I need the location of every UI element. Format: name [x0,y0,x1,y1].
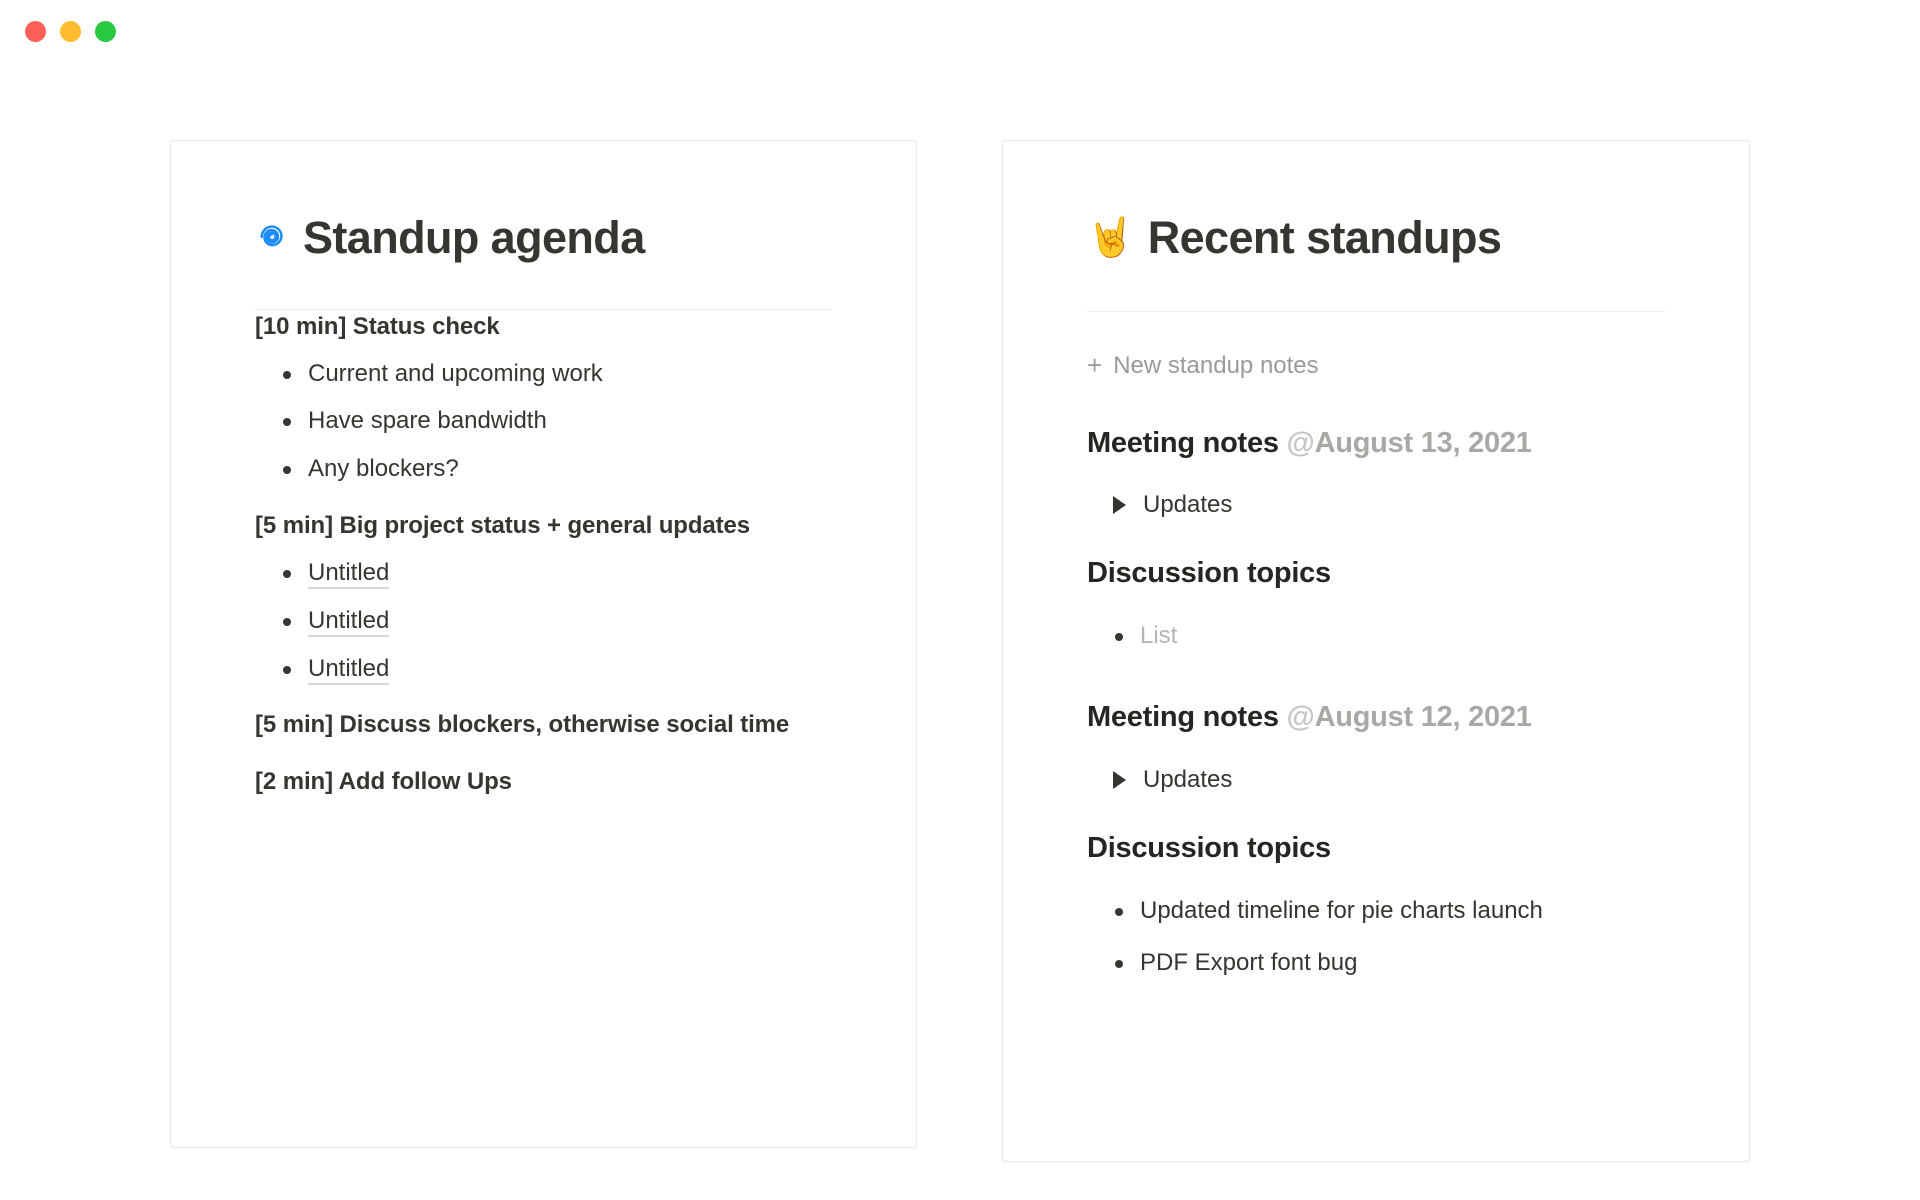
list-item: PDF Export font bug [1087,946,1665,981]
meeting-notes-date[interactable]: @August 12, 2021 [1287,701,1532,733]
at-symbol: @ [1287,701,1315,733]
list-item: Have spare bandwidth [255,404,832,439]
at-symbol: @ [1287,427,1315,459]
standup-entry: Meeting notes @August 12, 2021 Updates D… [1087,699,1665,981]
meeting-notes-title[interactable]: Meeting notes [1087,427,1279,459]
new-standup-notes-button[interactable]: + New standup notes [1087,352,1319,380]
standup-agenda-card: Standup agenda [10 min] Status check Cur… [170,140,917,1148]
list-item-label: Current and upcoming work [308,360,603,387]
meeting-notes-title[interactable]: Meeting notes [1087,701,1279,733]
caret-right-icon[interactable] [1113,496,1126,514]
meeting-notes-date[interactable]: @August 13, 2021 [1287,427,1532,459]
list-item: Any blockers? [255,452,832,487]
updates-toggle-label: Updates [1143,491,1232,519]
page-link[interactable]: Untitled [308,607,389,637]
sign-of-the-horns-icon: 🤘 [1087,219,1134,257]
agenda-block: [2 min] Add follow Ups [255,765,832,799]
agenda-block-heading: [5 min] Discuss blockers, otherwise soci… [255,708,832,742]
page-title: 🤘 Recent standups [1087,213,1665,263]
discussion-topics-list: Updated timeline for pie charts launch P… [1087,894,1665,982]
close-window-button[interactable] [25,21,46,42]
agenda-block: [10 min] Status check Current and upcomi… [255,310,832,487]
agenda-block: [5 min] Big project status + general upd… [255,509,832,686]
list-item-label: PDF Export font bug [1140,949,1357,976]
list-item[interactable]: Untitled [255,652,832,687]
maximize-window-button[interactable] [95,21,116,42]
updates-toggle-label: Updates [1143,766,1232,794]
list-item-placeholder: List [1140,622,1177,649]
list-item[interactable]: List [1087,619,1665,654]
discussion-topics-list: List [1087,619,1665,654]
agenda-block-heading: [2 min] Add follow Ups [255,765,832,799]
list-item-label: Have spare bandwidth [308,407,547,434]
agenda-block: [5 min] Discuss blockers, otherwise soci… [255,708,832,742]
page-title-text: Recent standups [1148,213,1502,263]
agenda-bullet-list: Current and upcoming work Have spare ban… [255,357,832,487]
minimize-window-button[interactable] [60,21,81,42]
meeting-notes-heading: Meeting notes @August 12, 2021 [1087,699,1665,737]
agenda-block-heading: [5 min] Big project status + general upd… [255,509,832,543]
updates-toggle[interactable]: Updates [1087,766,1232,794]
spiral-icon [255,217,289,258]
updates-toggle[interactable]: Updates [1087,491,1232,519]
meeting-notes-heading: Meeting notes @August 13, 2021 [1087,425,1665,463]
standup-entry: Meeting notes @August 13, 2021 Updates D… [1087,425,1665,654]
page-link[interactable]: Untitled [308,559,389,589]
list-item-label: Any blockers? [308,455,459,482]
list-item[interactable]: Untitled [255,604,832,639]
page-link[interactable]: Untitled [308,655,389,685]
agenda-block-heading: [10 min] Status check [255,310,832,344]
list-item: Updated timeline for pie charts launch [1087,894,1665,929]
caret-right-icon[interactable] [1113,771,1126,789]
page-title: Standup agenda [255,213,832,263]
discussion-topics-heading: Discussion topics [1087,832,1665,865]
list-item: Current and upcoming work [255,357,832,392]
recent-standups-card: 🤘 Recent standups + New standup notes Me… [1002,140,1750,1162]
list-item-label: Updated timeline for pie charts launch [1140,897,1543,924]
window-controls [25,21,116,42]
workspace: Standup agenda [10 min] Status check Cur… [0,140,1920,1162]
discussion-topics-heading: Discussion topics [1087,557,1665,590]
title-divider [1087,311,1665,312]
agenda-bullet-list: Untitled Untitled Untitled [255,556,832,686]
plus-icon: + [1087,352,1102,378]
agenda-body: [10 min] Status check Current and upcomi… [255,310,832,799]
new-standup-notes-label: New standup notes [1113,352,1318,380]
page-title-text: Standup agenda [303,213,645,263]
meeting-notes-date-text: August 13, 2021 [1315,427,1532,459]
list-item[interactable]: Untitled [255,556,832,591]
meeting-notes-date-text: August 12, 2021 [1315,701,1532,733]
window-titlebar [0,0,1920,62]
